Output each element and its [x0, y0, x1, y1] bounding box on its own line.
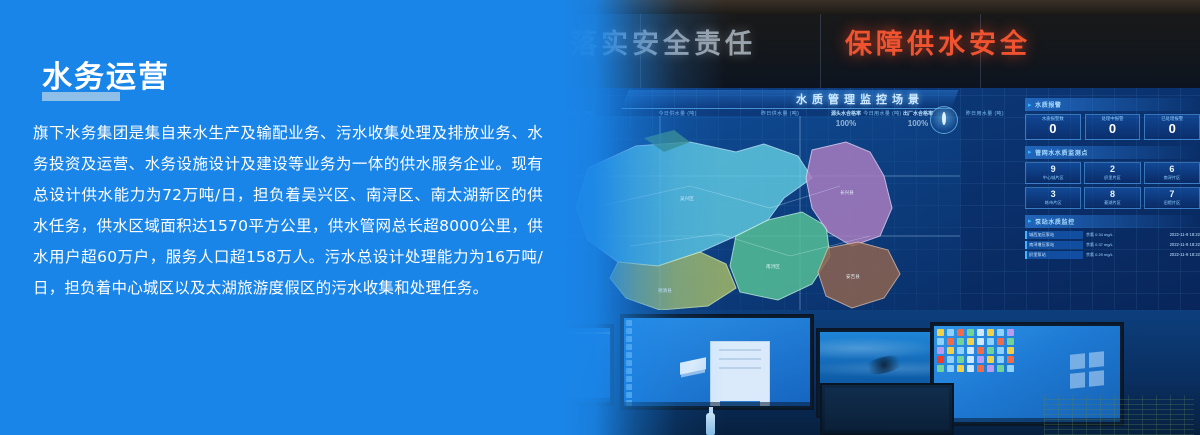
- panel-heading-monitor-points: ▸ 管网水水质监测点: [1025, 146, 1200, 159]
- laptop: [820, 383, 954, 435]
- spreadsheet-printout: [1044, 395, 1194, 435]
- led-video-wall: 落实安全责任 保障供水安全: [520, 0, 1200, 92]
- water-bottle: [706, 413, 715, 435]
- map-label-changxing: 长兴县: [840, 189, 854, 196]
- panel-heading-alarm: ▸ 水质报警: [1025, 98, 1200, 111]
- map-label-anji: 安吉县: [846, 273, 860, 280]
- slogan-left: 落实安全责任: [570, 22, 756, 61]
- monitor-point-tiles: 9 中心城片区 2 织里片区 6 南浔片区 3: [1025, 162, 1200, 209]
- map-label-deqing: 德清县: [658, 287, 672, 294]
- body-paragraph: 旗下水务集团是集自来水生产及输配业务、污水收集处理及排放业务、水务投资及运营、水…: [33, 118, 543, 304]
- desktop-icon-grid: [937, 329, 1015, 372]
- monitor-tile: 8 菱湖片区: [1084, 187, 1140, 209]
- stat-box: 水质报警数 0: [1025, 114, 1081, 140]
- map-label-nanxun: 南浔区: [766, 263, 780, 270]
- panel-heading-pump-quality: ▸ 泵站水质监控: [1025, 215, 1200, 228]
- windows-logo-icon: [1070, 351, 1104, 389]
- log-row: 织里泵站 余氯 0.29 mg/L 2022-11-9 18:22: [1025, 251, 1200, 259]
- log-row: 南浔增压泵站 余氯 0.37 mg/L 2022-11-9 18:22: [1025, 241, 1200, 249]
- text-content: 水务运营 旗下水务集团是集自来水生产及输配业务、污水收集处理及排放业务、水务投资…: [0, 0, 560, 435]
- monitor-tile: 7 旧馆片区: [1144, 187, 1200, 209]
- title-accent-bar: [42, 92, 120, 101]
- monitor-tile: 2 织里片区: [1084, 162, 1140, 184]
- map-compass-icon: [930, 106, 958, 134]
- map-label-wuxing: 吴兴区: [680, 195, 694, 202]
- district-water-map: 吴兴区 南浔区 德清县 长兴县 安吉县: [540, 116, 960, 316]
- page-title: 水务运营: [42, 52, 170, 96]
- monitor-center: [620, 314, 814, 410]
- map-svg: 吴兴区 南浔区 德清县 长兴县 安吉县: [540, 116, 960, 316]
- windows-flag-icon: [680, 357, 706, 375]
- chevron-right-icon: ▸: [1028, 217, 1032, 225]
- control-room-photo: 落实安全责任 保障供水安全 水质管理监控场景 供水总量 (万吨) 今日供水量 (…: [520, 0, 1200, 435]
- log-row: 城西加压泵站 余氯 0.34 mg/L 2022-11-9 18:22: [1025, 231, 1200, 239]
- slogan-right: 保障供水安全: [845, 22, 1031, 61]
- login-dialog[interactable]: [710, 341, 770, 406]
- desktop-icon-column: [626, 320, 632, 406]
- operator-desk: [520, 310, 1200, 435]
- pump-quality-log: 城西加压泵站 余氯 0.34 mg/L 2022-11-9 18:22 南浔增压…: [1025, 231, 1200, 259]
- monitor-tile: 9 中心城片区: [1025, 162, 1081, 184]
- alarm-stat-row: 水质报警数 0 处理中报警 0 已处理报警 0: [1025, 114, 1200, 140]
- chevron-right-icon: ▸: [1028, 148, 1032, 156]
- monitor-tile: 3 练市片区: [1025, 187, 1081, 209]
- stat-box: 处理中报警 0: [1085, 114, 1141, 140]
- water-operations-banner: 落实安全责任 保障供水安全 水质管理监控场景 供水总量 (万吨) 今日供水量 (…: [0, 0, 1200, 435]
- dashboard-side-panels: ▸ 水质报警 水质报警数 0 处理中报警 0 已处理报警: [1025, 98, 1200, 316]
- monitor-tile: 6 南浔片区: [1144, 162, 1200, 184]
- stat-box: 已处理报警 0: [1144, 114, 1200, 140]
- chevron-right-icon: ▸: [1028, 101, 1032, 109]
- water-quality-dashboard: 水质管理监控场景 供水总量 (万吨) 今日供水量 (吨) 昨日供水量 (吨) 今…: [520, 88, 1200, 316]
